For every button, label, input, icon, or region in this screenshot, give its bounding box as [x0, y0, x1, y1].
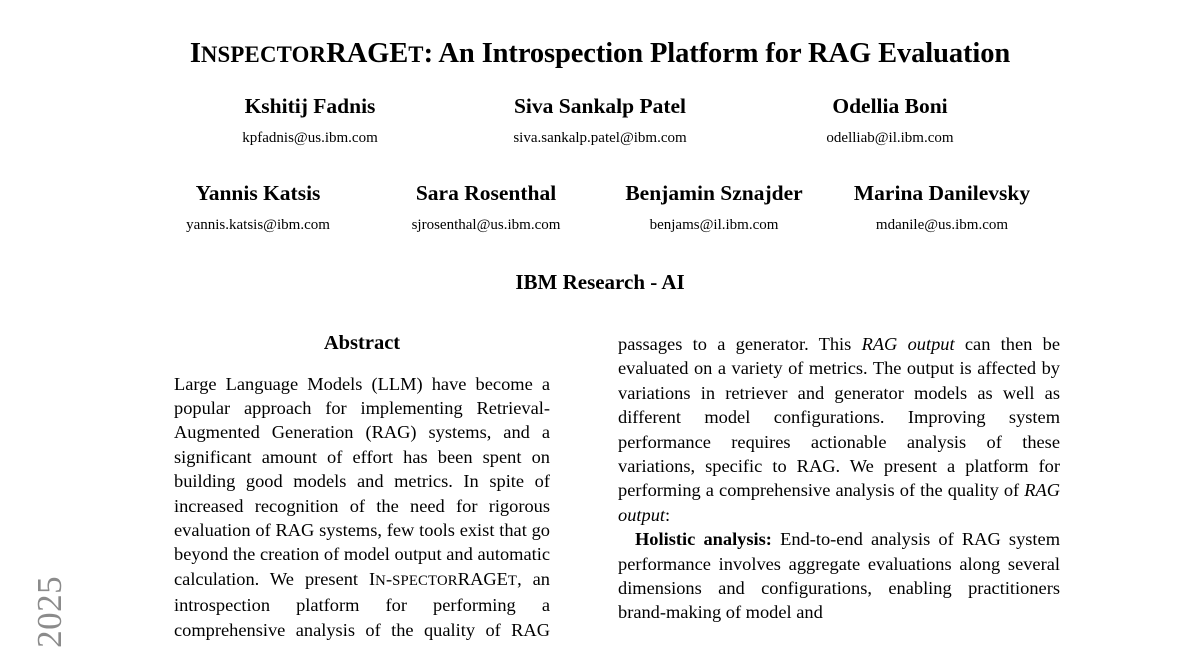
- author-email: odelliab@il.ibm.com: [745, 129, 1035, 147]
- intro-text-part-1: passages to a generator. This: [618, 334, 862, 354]
- author-block: Odellia Boni odelliab@il.ibm.com: [745, 94, 1035, 147]
- title-subtitle: : An Introspection Platform for RAG Eval…: [424, 38, 1011, 69]
- intro-italic-rag-output-1: RAG output: [862, 334, 955, 354]
- authors-row-1: Kshitij Fadnis kpfadnis@us.ibm.com Siva …: [0, 94, 1200, 147]
- title-caps-rag: RAG: [326, 38, 389, 69]
- title-smallcaps-t: T: [408, 42, 423, 67]
- author-name: Siva Sankalp Patel: [455, 94, 745, 119]
- author-email: kpfadnis@us.ibm.com: [165, 129, 455, 147]
- page-title: INSPECTORRAGET: An Introspection Platfor…: [100, 38, 1100, 69]
- title-initial-e: E: [389, 38, 408, 69]
- author-block: Yannis Katsis yannis.katsis@ibm.com: [144, 181, 372, 234]
- intro-text-part-2: can then be evaluated on a variety of me…: [618, 334, 1060, 500]
- abstract-smallcaps-n: N: [375, 573, 386, 589]
- abstract-smallcaps-t: T: [508, 573, 517, 589]
- abstract-smallcaps-spector: SPECTOR: [392, 573, 458, 589]
- author-block: Benjamin Sznajder benjams@il.ibm.com: [600, 181, 828, 234]
- abstract-text-part-1: Large Language Models (LLM) have become …: [174, 374, 550, 589]
- abstract-initial-e: E: [497, 569, 508, 589]
- title-initial-i: I: [190, 38, 201, 69]
- author-email: benjams@il.ibm.com: [600, 216, 828, 234]
- author-email: siva.sankalp.patel@ibm.com: [455, 129, 745, 147]
- author-name: Odellia Boni: [745, 94, 1035, 119]
- abstract-heading: Abstract: [174, 332, 550, 355]
- title-smallcaps-nspector: NSPECTOR: [201, 42, 326, 67]
- author-name: Benjamin Sznajder: [600, 181, 828, 206]
- affiliation-line: IBM Research - AI: [0, 270, 1200, 295]
- author-block: Marina Danilevsky mdanile@us.ibm.com: [828, 181, 1056, 234]
- abstract-caps-rag: RAG: [458, 569, 497, 589]
- author-email: yannis.katsis@ibm.com: [144, 216, 372, 234]
- author-email: mdanile@us.ibm.com: [828, 216, 1056, 234]
- author-name: Kshitij Fadnis: [165, 94, 455, 119]
- author-name: Marina Danilevsky: [828, 181, 1056, 206]
- author-block: Sara Rosenthal sjrosenthal@us.ibm.com: [372, 181, 600, 234]
- author-name: Sara Rosenthal: [372, 181, 600, 206]
- abstract-paragraph: Large Language Models (LLM) have become …: [174, 372, 550, 648]
- holistic-analysis-lead: Holistic analysis:: [635, 529, 772, 549]
- author-block: Kshitij Fadnis kpfadnis@us.ibm.com: [165, 94, 455, 147]
- intro-paragraph-2: Holistic analysis: End-to-end analysis o…: [618, 527, 1060, 625]
- intro-paragraph-1: passages to a generator. This RAG output…: [618, 332, 1060, 527]
- paper-page: INSPECTORRAGET: An Introspection Platfor…: [0, 0, 1200, 648]
- authors-row-2: Yannis Katsis yannis.katsis@ibm.com Sara…: [0, 181, 1200, 234]
- intro-text-part-3: :: [665, 505, 670, 525]
- author-email: sjrosenthal@us.ibm.com: [372, 216, 600, 234]
- abstract-column: Abstract Large Language Models (LLM) hav…: [174, 332, 550, 648]
- author-name: Yannis Katsis: [144, 181, 372, 206]
- introduction-column: passages to a generator. This RAG output…: [618, 332, 1060, 648]
- author-block: Siva Sankalp Patel siva.sankalp.patel@ib…: [455, 94, 745, 147]
